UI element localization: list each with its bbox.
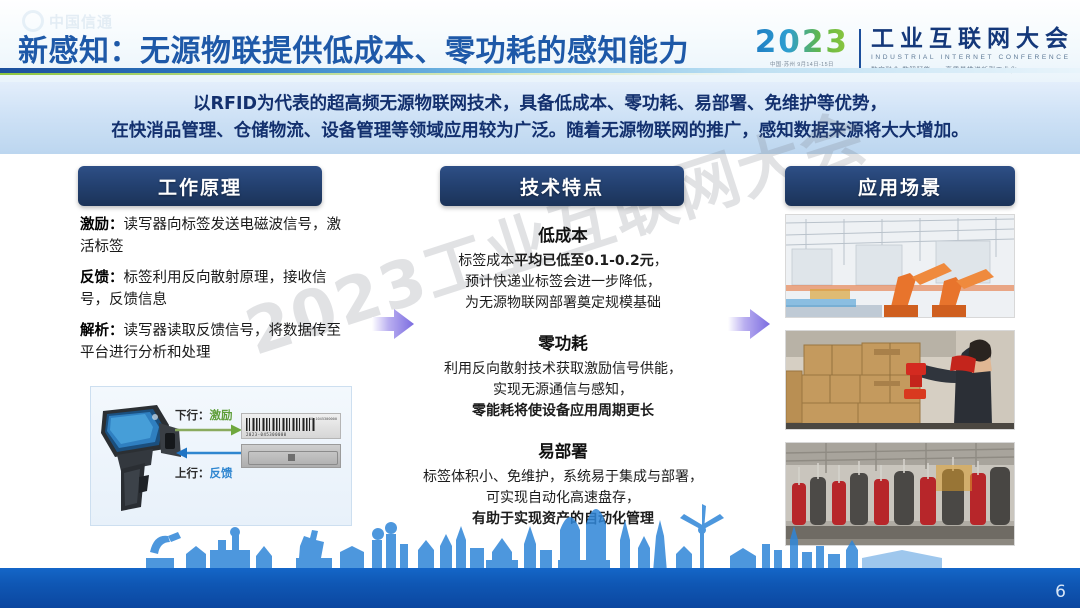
page-number: 6 <box>1055 582 1066 602</box>
slide-root: 中国信通 新感知：无源物联提供低成本、零功耗的感知能力 2023 中国·苏州 9… <box>0 0 1080 608</box>
photo-smart-factory-robots <box>785 214 1015 318</box>
title-divider-accent <box>0 73 760 75</box>
feature-line: 预计快递业标签会进一步降低， <box>398 272 728 293</box>
column-header-label: 工作原理 <box>158 173 242 200</box>
feature-block-zero-power: 零功耗 利用反向散射技术获取激励信号供能， 实现无源通信与感知， 零能耗将使设备… <box>398 330 728 422</box>
slide-header: 中国信通 新感知：无源物联提供低成本、零功耗的感知能力 2023 中国·苏州 9… <box>0 0 1080 82</box>
purple-right-arrow-icon-1 <box>372 305 414 343</box>
city-skyline-decoration <box>0 500 1080 570</box>
feature-line-tail: ， <box>654 253 668 269</box>
feature-block-low-cost: 低成本 标签成本平均已低至0.1-0.2元， 预计快递业标签会进一步降低， 为无… <box>398 222 728 314</box>
feature-title: 易部署 <box>398 438 728 462</box>
tag-barcode-text: 2023-045300000 <box>246 432 287 437</box>
factory-robot-illustration <box>786 215 1014 317</box>
warehouse-scan-illustration <box>786 331 1014 429</box>
downlink-prefix: 下行： <box>175 408 210 422</box>
feature-title: 低成本 <box>398 222 728 246</box>
flow-arrows: 下行：激励 上行：反馈 <box>175 407 247 481</box>
principle-paragraph: 解析：读写器读取反馈信号，将数据传至平台进行分析和处理 <box>80 320 352 364</box>
column-header-working-principle: 工作原理 <box>78 166 322 206</box>
feature-line: 标签成本平均已低至0.1-0.2元， <box>398 251 728 272</box>
purple-right-arrow-icon-2 <box>728 305 770 343</box>
column-header-label: 技术特点 <box>520 173 604 200</box>
summary-line-1: 以RFID为代表的超高频无源物联网技术，具备低成本、零功耗、易部署、免维护等优势… <box>193 91 887 118</box>
rfid-inlay-icon <box>241 444 341 468</box>
feature-title: 零功耗 <box>398 330 728 354</box>
feature-line-bold: 平均已低至0.1-0.2元 <box>514 253 653 269</box>
principle-label: 激励： <box>80 217 124 233</box>
column-header-tech-features: 技术特点 <box>440 166 684 206</box>
tech-features-body: 低成本 标签成本平均已低至0.1-0.2元， 预计快递业标签会进一步降低， 为无… <box>398 222 728 546</box>
feature-line: 为无源物联网部署奠定规模基础 <box>398 293 728 314</box>
uplink-value: 反馈 <box>210 466 233 480</box>
uplink-label: 上行：反馈 <box>175 465 247 481</box>
logo-divider <box>859 29 861 69</box>
column-header-label: 应用场景 <box>858 173 942 200</box>
logo-year-block: 2023 中国·苏州 9月14日-15日 <box>755 28 849 68</box>
feature-line: 标签体积小、免维护，系统易于集成与部署， <box>398 467 728 488</box>
principle-paragraph: 反馈：标签利用反向散射原理，接收信号，反馈信息 <box>80 267 352 311</box>
photo-warehouse-logistics-scan <box>785 330 1015 430</box>
feature-line: 零能耗将使设备应用周期更长 <box>398 401 728 422</box>
logo-year: 2023 <box>755 28 849 57</box>
downlink-arrow-icon <box>175 423 243 437</box>
summary-line-2: 在快消品管理、仓储物流、设备管理等领域应用较为广泛。随着无源物联网的推广，感知数… <box>111 118 969 145</box>
column-header-applications: 应用场景 <box>785 166 1015 206</box>
uplink-arrow-icon <box>175 446 243 460</box>
rfid-tag-label-icon: NO.1045300000 2023-045300000 <box>241 413 341 439</box>
barcode-icon <box>246 418 316 431</box>
downlink-label: 下行：激励 <box>175 407 247 423</box>
chip-shape <box>288 454 295 461</box>
rfid-tag-group: NO.1045300000 2023-045300000 <box>241 413 341 468</box>
feature-line: 利用反向散射技术获取激励信号供能， <box>398 359 728 380</box>
logo-name-cn: 工业互联网大会 <box>871 28 1074 51</box>
downlink-value: 激励 <box>210 408 233 422</box>
principle-label: 反馈： <box>80 270 124 286</box>
working-principle-body: 激励：读写器向标签发送电磁波信号，激活标签 反馈：标签利用反向散射原理，接收信号… <box>80 214 352 373</box>
bottom-wave-band <box>0 568 1080 608</box>
logo-name-en: INDUSTRIAL INTERNET CONFERENCE <box>871 54 1074 61</box>
feature-line-plain: 标签成本 <box>458 253 514 269</box>
principle-paragraph: 激励：读写器向标签发送电磁波信号，激活标签 <box>80 214 352 258</box>
rfid-handheld-reader-icon <box>95 403 187 515</box>
uplink-prefix: 上行： <box>175 466 210 480</box>
principle-label: 解析： <box>80 323 124 339</box>
page-title: 新感知：无源物联提供低成本、零功耗的感知能力 <box>18 26 689 70</box>
feature-line: 实现无源通信与感知， <box>398 380 728 401</box>
summary-banner: 以RFID为代表的超高频无源物联网技术，具备低成本、零功耗、易部署、免维护等优势… <box>0 82 1080 154</box>
